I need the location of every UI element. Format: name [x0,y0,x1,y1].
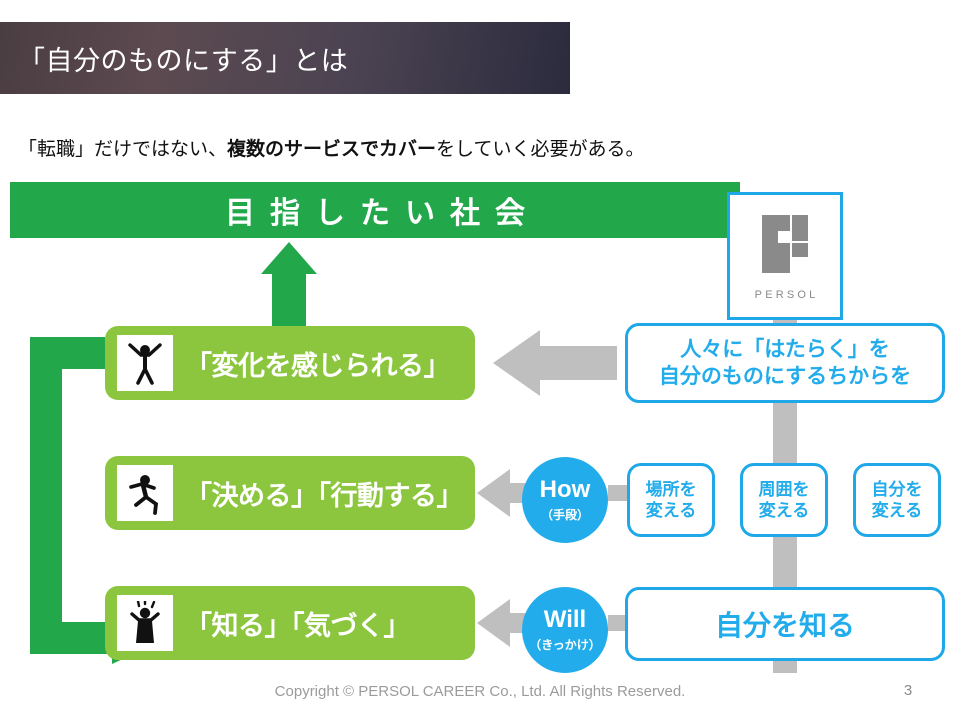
step-label-change: 「変化を感じられる」 [185,344,450,383]
brand-tagline-line1: 人々に「はたらく」を [659,336,911,363]
goal-banner: 目指したい社会 [10,182,740,238]
arrow-how-to-act [477,469,525,517]
means-self-line1: 自分を [872,479,923,500]
arrow-tagline-to-change [493,330,617,396]
means-box-surroundings[interactable]: 周囲を 変える [740,463,828,537]
means-text-surroundings: 周囲を 変える [759,479,810,522]
means-place-line2: 変える [646,500,697,521]
circle-will[interactable]: Will （きっかけ） [522,587,608,673]
person-running-icon [117,465,173,521]
circle-how-title: How [540,478,591,502]
concept-diagram: 目指したい社会 PERSOL 人々に「はたらく」を 自分のものにするちからを [0,178,960,678]
means-surroundings-line2: 変える [759,500,810,521]
brand-tagline-box: 人々に「はたらく」を 自分のものにするちからを [625,323,945,403]
step-label-act: 「決める」「行動する」 [185,474,463,513]
lead-text-pre: 「転職」だけではない、 [18,139,227,160]
copyright-notice: Copyright © PERSOL CAREER Co., Ltd. All … [0,683,960,700]
circle-how-subtitle: （手段） [541,506,589,523]
means-box-place[interactable]: 場所を 変える [627,463,715,537]
brand-tagline-line2: 自分のものにするちからを [659,363,911,390]
page-title: 「自分のものにする」とは [0,39,348,78]
spine-segment-middle [773,401,797,465]
arrow-will-to-know [477,599,525,647]
spine-segment-bottom [773,535,797,589]
means-place-line1: 場所を [646,479,697,500]
means-surroundings-line1: 周囲を [759,479,810,500]
means-self-line2: 変える [872,500,923,521]
circle-will-subtitle: （きっかけ） [529,636,601,653]
lead-text-post: をしていく必要がある。 [436,139,644,160]
goal-banner-label: 目指したい社会 [210,188,540,232]
step-box-act[interactable]: 「決める」「行動する」 [105,456,475,530]
circle-how[interactable]: How （手段） [522,457,608,543]
circle-will-title: Will [544,608,586,632]
person-realizing-icon [117,595,173,651]
spine-segment-tail [773,659,797,673]
page-number: 3 [893,682,923,699]
person-arms-raised-icon [117,335,173,391]
means-box-self[interactable]: 自分を 変える [853,463,941,537]
step-box-know[interactable]: 「知る」「気づく」 [105,586,475,660]
means-text-self: 自分を 変える [872,479,923,522]
slide-title-bar: 「自分のものにする」とは [0,22,570,94]
lead-text-emphasis: 複数のサービスでカバー [227,139,436,160]
step-label-know: 「知る」「気づく」 [185,604,410,643]
persol-wordmark: PERSOL [751,289,818,301]
know-self-box[interactable]: 自分を知る [625,587,945,661]
step-box-change[interactable]: 「変化を感じられる」 [105,326,475,400]
know-self-label: 自分を知る [715,604,855,644]
persol-logo-card: PERSOL [727,192,843,320]
brand-tagline-text: 人々に「はたらく」を 自分のものにするちからを [659,336,911,391]
ascend-arrow-shaft [272,270,306,330]
ascend-arrow-head [261,242,317,274]
means-text-place: 場所を 変える [646,479,697,522]
persol-logo-mark-icon [760,213,810,280]
lead-paragraph: 「転職」だけではない、複数のサービスでカバーをしていく必要がある。 [18,134,918,161]
